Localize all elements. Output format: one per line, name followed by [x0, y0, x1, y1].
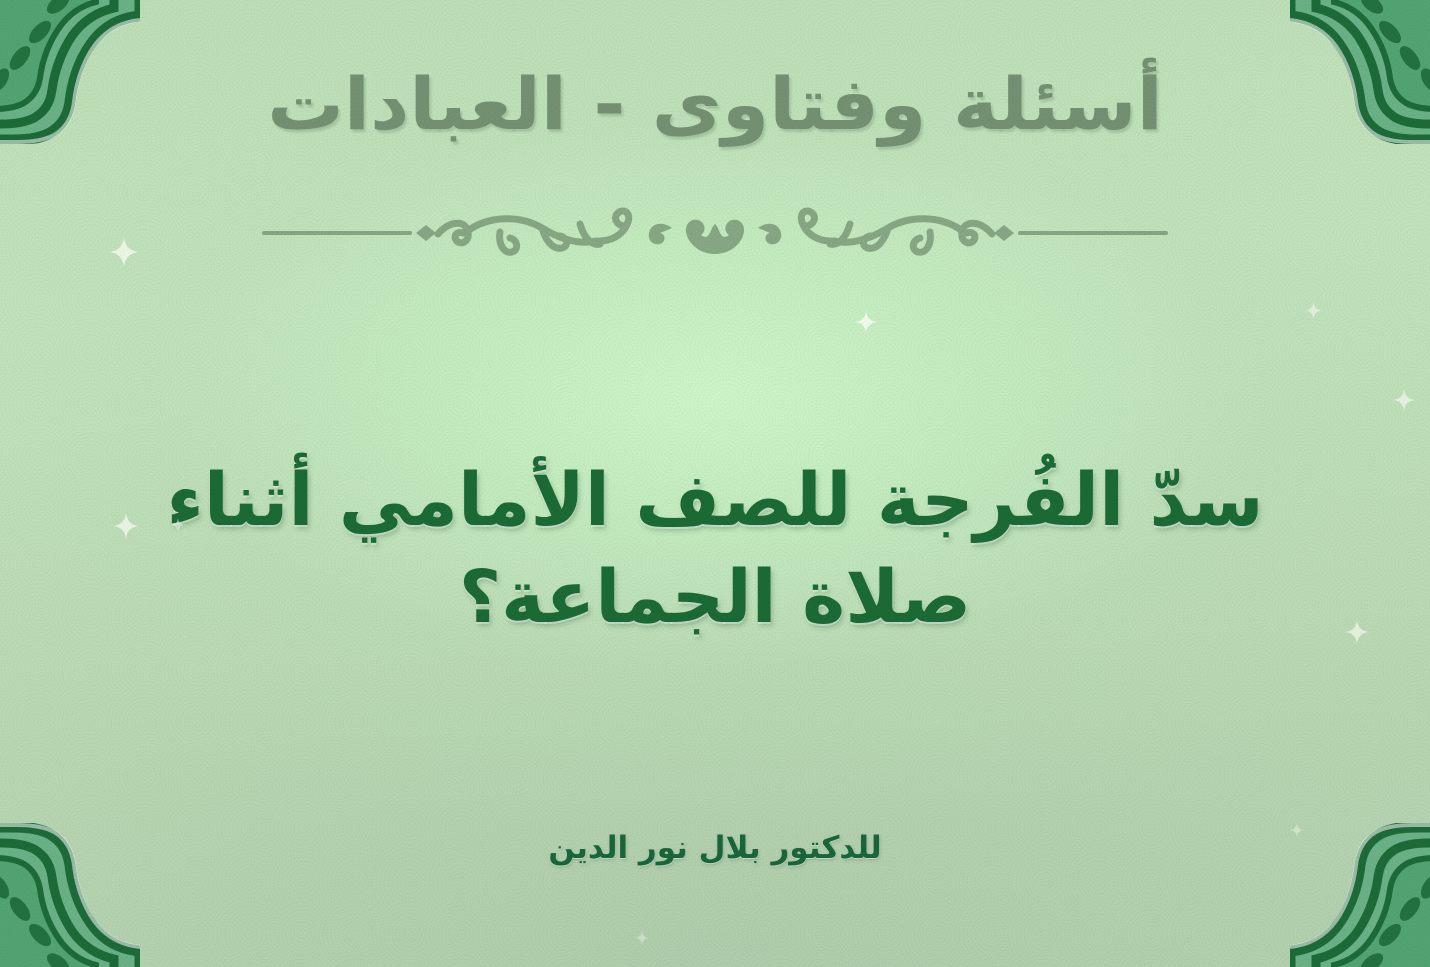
sparkle-icon	[855, 311, 877, 333]
poster-header: أسئلة وفتاوى - العبادات	[0, 58, 1430, 150]
sparkle-icon	[1393, 389, 1415, 411]
flourish-divider-icon	[260, 198, 1170, 268]
author-attribution: للدكتور بلال نور الدين	[0, 830, 1430, 866]
sparkle-icon	[1305, 302, 1322, 319]
sparkle-icon	[635, 931, 649, 945]
sparkle-icon	[1345, 620, 1369, 644]
question-title: سدّ الفُرجة للصف الأمامي أثناء صلاة الجم…	[112, 452, 1318, 646]
sparkle-icon	[109, 237, 139, 267]
poster-canvas: أسئلة وفتاوى - العبادات	[0, 0, 1430, 967]
category-title: أسئلة وفتاوى - العبادات	[0, 58, 1430, 150]
